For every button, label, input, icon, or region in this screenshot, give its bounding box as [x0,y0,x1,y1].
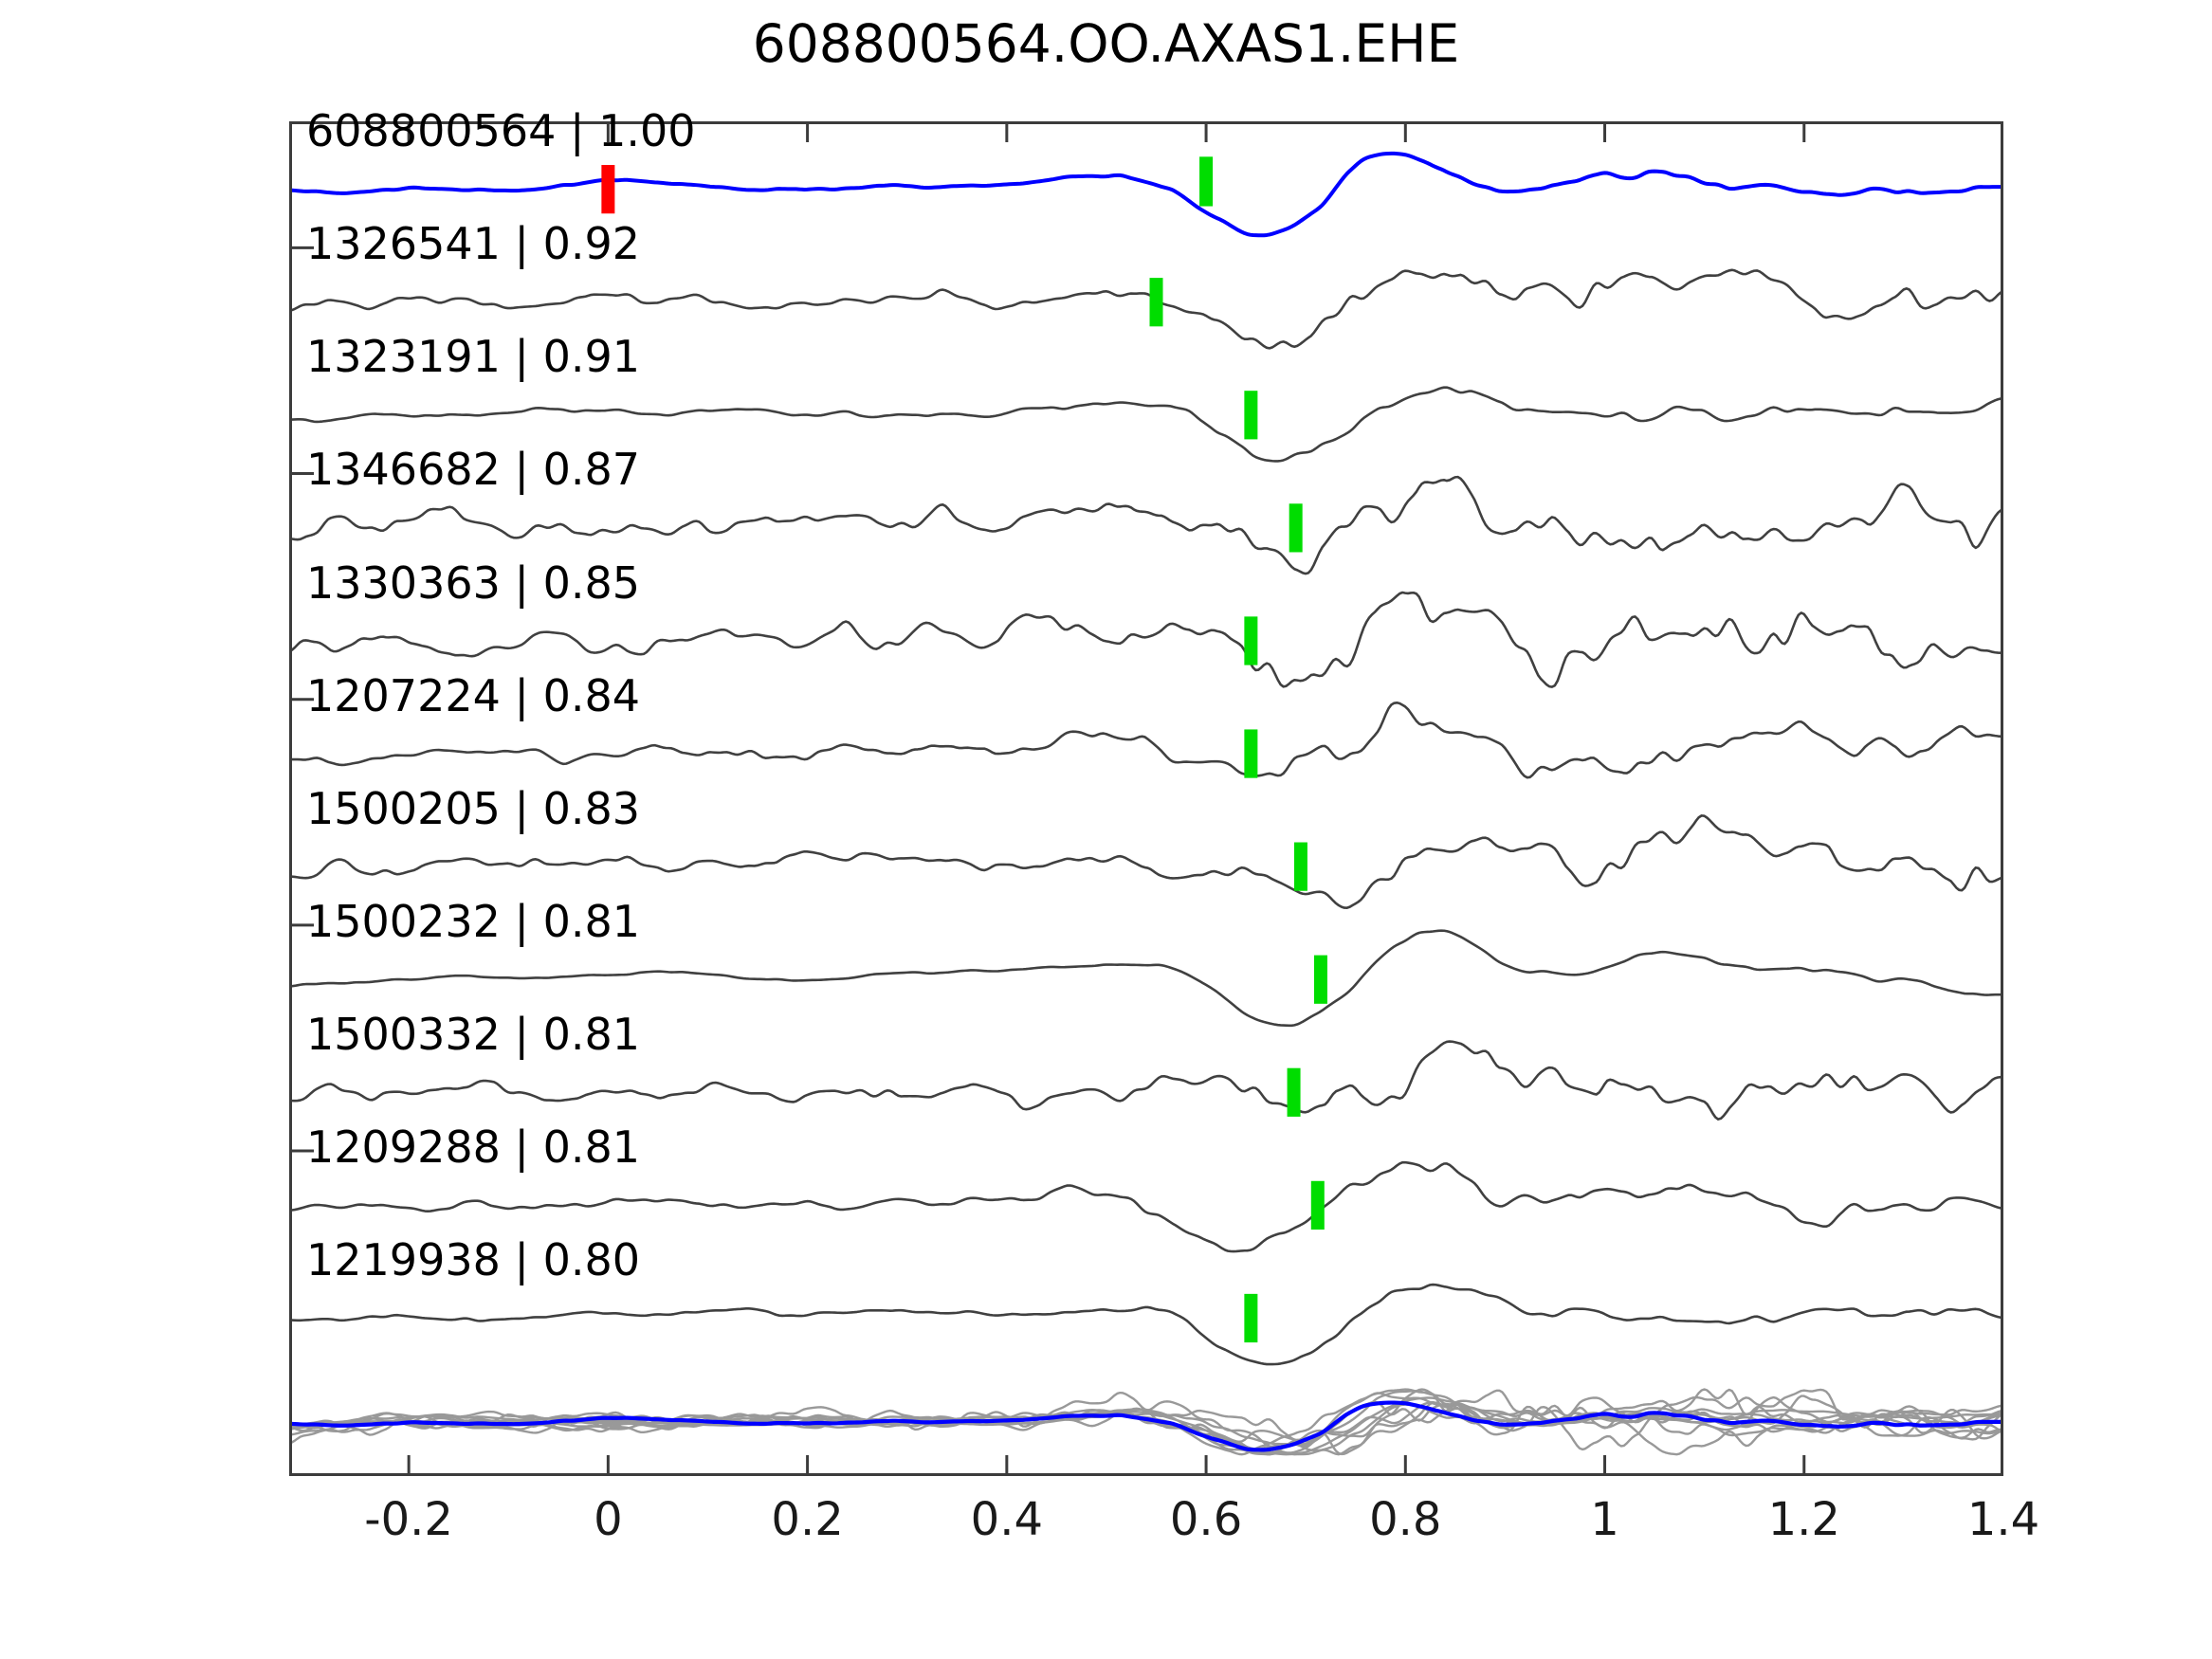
trace-label-1500332: 1500332 | 0.81 [306,1012,640,1056]
trace-label-608800564: 608800564 | 1.00 [306,109,696,153]
trace-label-1219938: 1219938 | 0.80 [306,1238,640,1282]
seismogram-figure: 608800564.OO.AXAS1.EHE 608800564 | 1.001… [0,0,2212,1659]
x-tick-label: 0.4 [971,1493,1043,1546]
page-title: 608800564.OO.AXAS1.EHE [0,13,2212,74]
pick-marker-1500332 [1288,1068,1301,1117]
trace-label-1326541: 1326541 | 0.92 [306,222,640,265]
pick-marker-1346682 [1289,503,1303,552]
pick-marker-secondary-608800564 [1199,156,1213,206]
trace-label-1346682: 1346682 | 0.87 [306,447,640,491]
pick-marker-1209288 [1311,1181,1325,1230]
trace-label-1323191: 1323191 | 0.91 [306,335,640,378]
trace-label-1207224: 1207224 | 0.84 [306,674,640,718]
trace-label-1500205: 1500205 | 0.83 [306,787,640,830]
x-tick-label: 0.6 [1170,1493,1242,1546]
pick-marker-1330363 [1244,616,1257,665]
pick-marker-1219938 [1244,1294,1257,1342]
x-tick-label: 1.2 [1768,1493,1840,1546]
x-tick-label: 0 [594,1493,623,1546]
x-tick-label: 0.2 [771,1493,843,1546]
x-tick-label: -0.2 [364,1493,453,1546]
trace-label-1500232: 1500232 | 0.81 [306,900,640,943]
pick-marker-608800564 [601,165,614,213]
trace-label-1330363: 1330363 | 0.85 [306,561,640,605]
trace-label-1209288: 1209288 | 0.81 [306,1125,640,1169]
x-tick-label: 0.8 [1369,1493,1441,1546]
pick-marker-1207224 [1244,729,1257,777]
pick-marker-1500232 [1314,956,1327,1004]
x-tick-label: 1.4 [1967,1493,2039,1546]
pick-marker-1500205 [1294,843,1307,891]
pick-marker-1323191 [1244,391,1257,439]
waveform-trace-1219938 [289,1285,2003,1364]
x-tick-label: 1 [1590,1493,1619,1546]
pick-marker-1326541 [1150,278,1163,326]
